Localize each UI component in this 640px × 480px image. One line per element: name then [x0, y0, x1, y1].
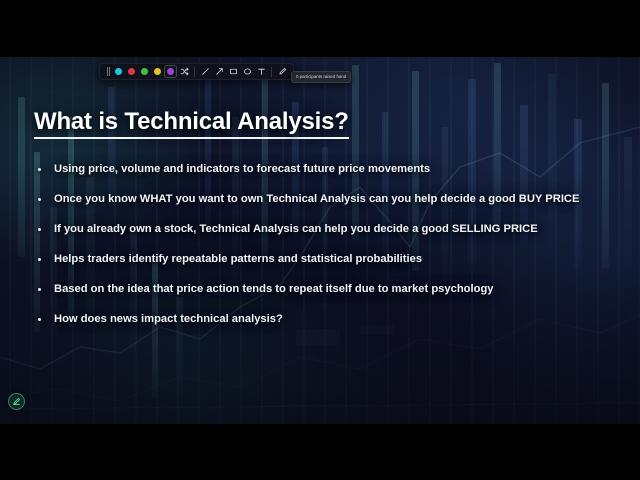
screen: What is Technical Analysis? Using price,…: [0, 0, 640, 480]
list-item: Based on the idea that price action tend…: [34, 283, 612, 296]
letterbox-bottom: [0, 424, 640, 480]
toolbar-divider: [271, 67, 272, 77]
list-item: How does news impact technical analysis?: [34, 313, 612, 326]
list-item-label: If you already own a stock, Technical An…: [54, 223, 538, 235]
ellipse-tool-icon[interactable]: [240, 65, 254, 79]
bullet-dot-icon: [38, 168, 41, 171]
text-tool-icon[interactable]: [254, 65, 268, 79]
list-item: Once you know WHAT you want to own Techn…: [34, 193, 612, 206]
edit-pencil-icon: [12, 397, 21, 406]
color-swatch-purple[interactable]: [164, 65, 177, 78]
list-item-label: How does news impact technical analysis?: [54, 313, 283, 325]
bullet-dot-icon: [38, 228, 41, 231]
bullet-dot-icon: [38, 258, 41, 261]
list-item: If you already own a stock, Technical An…: [34, 223, 612, 236]
annotation-toolbar[interactable]: [99, 63, 294, 80]
annotate-toggle-button[interactable]: [8, 393, 25, 410]
bullet-dot-icon: [38, 198, 41, 201]
slide-content: What is Technical Analysis? Using price,…: [0, 57, 640, 424]
toolbar-tooltip: 0 participants raised hand: [291, 71, 351, 83]
color-swatch-green[interactable]: [138, 65, 151, 78]
slide-stage: What is Technical Analysis? Using price,…: [0, 57, 640, 424]
list-item: Using price, volume and indicators to fo…: [34, 163, 612, 176]
list-item-label: Once you know WHAT you want to own Techn…: [54, 193, 579, 205]
bullet-list: Using price, volume and indicators to fo…: [34, 163, 612, 326]
letterbox-top: [0, 0, 640, 57]
bullet-dot-icon: [38, 288, 41, 291]
color-swatch-yellow[interactable]: [151, 65, 164, 78]
page-title: What is Technical Analysis?: [34, 109, 349, 139]
list-item-label: Based on the idea that price action tend…: [54, 283, 494, 295]
line-tool-icon[interactable]: [198, 65, 212, 79]
bullet-dot-icon: [38, 318, 41, 321]
toolbar-divider: [194, 67, 195, 77]
toolbar-drag-handle[interactable]: [104, 66, 111, 77]
color-swatch-cyan[interactable]: [112, 65, 125, 78]
list-item-label: Helps traders identify repeatable patter…: [54, 253, 422, 265]
eraser-tool-icon[interactable]: [275, 65, 289, 79]
list-item-label: Using price, volume and indicators to fo…: [54, 163, 430, 175]
rectangle-tool-icon[interactable]: [226, 65, 240, 79]
list-item: Helps traders identify repeatable patter…: [34, 253, 612, 266]
color-swatch-red[interactable]: [125, 65, 138, 78]
shuffle-icon[interactable]: [177, 65, 191, 79]
arrow-tool-icon[interactable]: [212, 65, 226, 79]
